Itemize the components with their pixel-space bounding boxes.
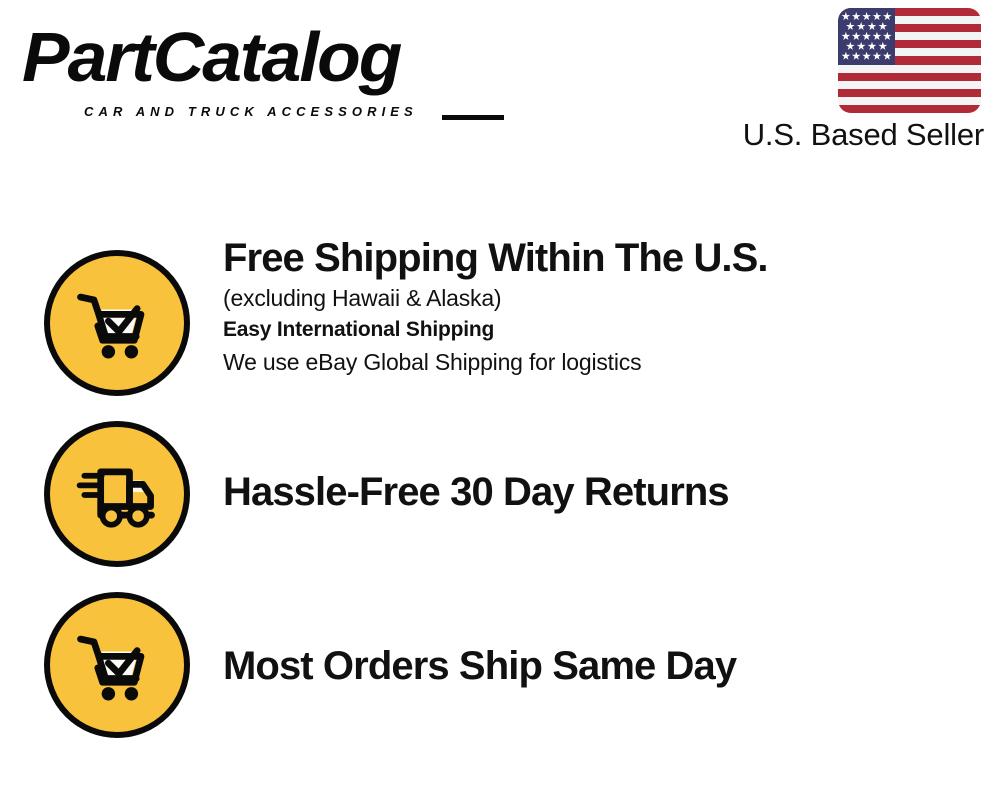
- flag-star: [862, 52, 871, 61]
- flag-star: [841, 52, 850, 61]
- flag-star: [857, 22, 866, 31]
- brand-logo: PartCatalog CAR AND TRUCK ACCESSORIES: [22, 16, 492, 124]
- flag-star: [846, 42, 855, 51]
- flag-star: [883, 32, 892, 41]
- flag-stripe: [838, 65, 981, 73]
- flag-canton: [838, 8, 895, 65]
- flag-star: [872, 52, 881, 61]
- flag-star: [862, 12, 871, 21]
- flag-star: [867, 22, 876, 31]
- feature-headline: Hassle-Free 30 Day Returns: [223, 468, 729, 516]
- flag-stripe: [838, 73, 981, 81]
- brand-tagline: CAR AND TRUCK ACCESSORIES: [84, 104, 418, 119]
- flag-stripe: [838, 105, 981, 113]
- flag-star: [878, 42, 887, 51]
- flag-star: [862, 32, 871, 41]
- flag-star: [872, 32, 881, 41]
- brand-underline-rule: [442, 115, 504, 120]
- flag-stripe: [838, 89, 981, 97]
- feature-subline: (excluding Hawaii & Alaska): [223, 282, 768, 314]
- flag-star: [852, 52, 861, 61]
- feature-subline-secondary: We use eBay Global Shipping for logistic…: [223, 346, 768, 378]
- flag-star-row: [840, 22, 893, 31]
- feature-free-shipping-text: Free Shipping Within The U.S. (excluding…: [223, 234, 768, 378]
- feature-headline: Most Orders Ship Same Day: [223, 642, 736, 690]
- feature-same-day-text: Most Orders Ship Same Day: [223, 642, 736, 690]
- flag-star-row: [840, 42, 893, 51]
- flag-star: [867, 42, 876, 51]
- us-based-seller-label: U.S. Based Seller: [728, 117, 984, 153]
- flag-star: [841, 32, 850, 41]
- flag-star: [841, 12, 850, 21]
- flag-star: [878, 22, 887, 31]
- flag-stripe: [838, 97, 981, 105]
- delivery-truck-icon: [44, 421, 190, 567]
- flag-star: [883, 52, 892, 61]
- shopping-cart-check-icon: [44, 250, 190, 396]
- flag-star: [852, 12, 861, 21]
- flag-star: [852, 32, 861, 41]
- feature-returns-text: Hassle-Free 30 Day Returns: [223, 468, 729, 516]
- flag-star: [846, 22, 855, 31]
- flag-stripe: [838, 81, 981, 89]
- flag-star-row: [840, 32, 893, 41]
- flag-star: [857, 42, 866, 51]
- flag-star-row: [840, 52, 893, 61]
- feature-subhead: Easy International Shipping: [223, 314, 768, 346]
- brand-wordmark: PartCatalog: [22, 16, 400, 98]
- flag-star: [872, 12, 881, 21]
- feature-headline: Free Shipping Within The U.S.: [223, 234, 768, 282]
- flag-star-row: [840, 12, 893, 21]
- seller-info-banner: PartCatalog CAR AND TRUCK ACCESSORIES: [0, 0, 1000, 800]
- shopping-cart-check-icon: [44, 592, 190, 738]
- flag-star: [883, 12, 892, 21]
- us-flag-icon: [838, 8, 981, 113]
